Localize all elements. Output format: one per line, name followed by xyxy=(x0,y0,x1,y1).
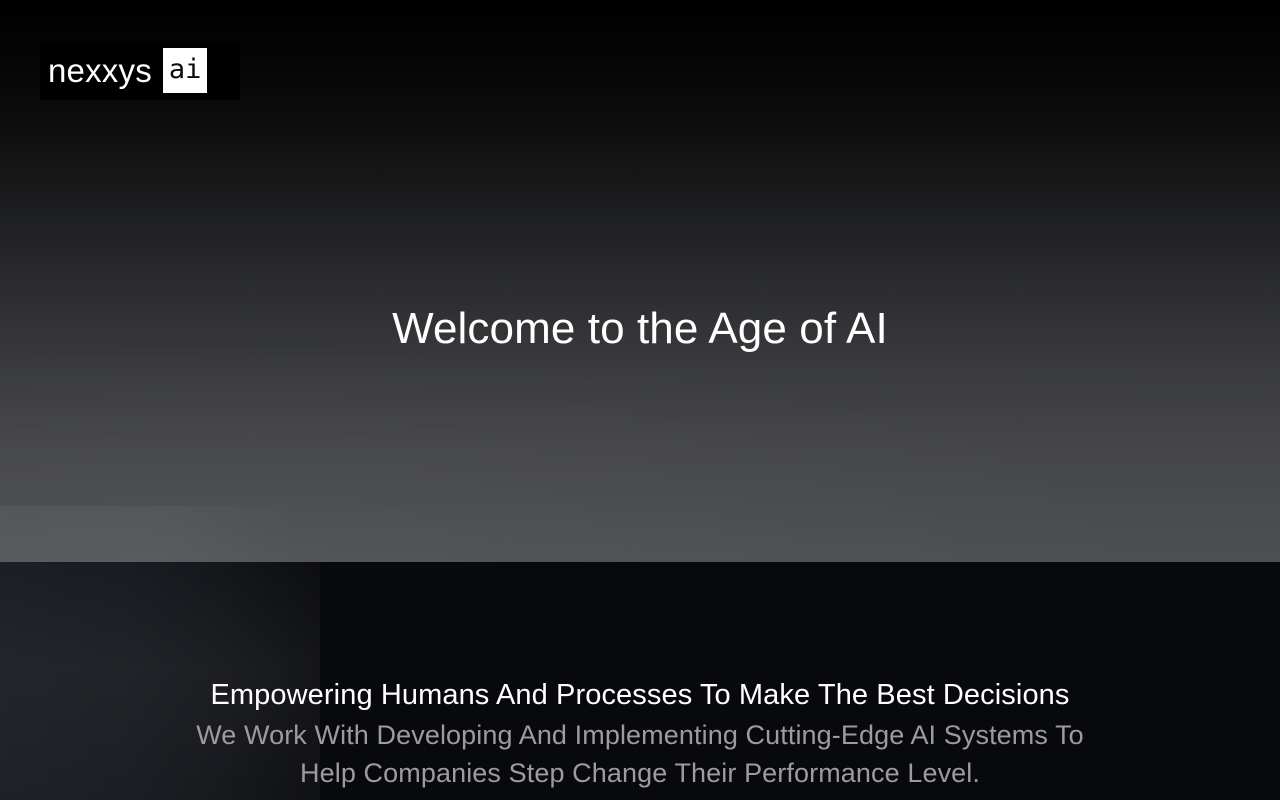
hero-headline: Welcome to the Age of AI xyxy=(0,301,1280,357)
hero-sheen-overlay xyxy=(0,330,1280,562)
subtext-line-2: Help Companies Step Change Their Perform… xyxy=(0,754,1280,792)
tagline-block: Empowering Humans And Processes To Make … xyxy=(0,676,1280,792)
brand-logo-word: nexxys xyxy=(48,54,152,87)
subtext-paragraph: We Work With Developing And Implementing… xyxy=(0,716,1280,792)
subtext-line-1: We Work With Developing And Implementing… xyxy=(0,716,1280,754)
hero-section: nexxys ai Welcome to the Age of AI xyxy=(0,0,1280,562)
brand-logo[interactable]: nexxys ai xyxy=(40,41,240,100)
page-root: nexxys ai Welcome to the Age of AI Empow… xyxy=(0,0,1280,800)
tagline-heading: Empowering Humans And Processes To Make … xyxy=(0,676,1280,714)
hero-glow-patch xyxy=(0,506,300,562)
brand-logo-badge: ai xyxy=(163,48,208,93)
